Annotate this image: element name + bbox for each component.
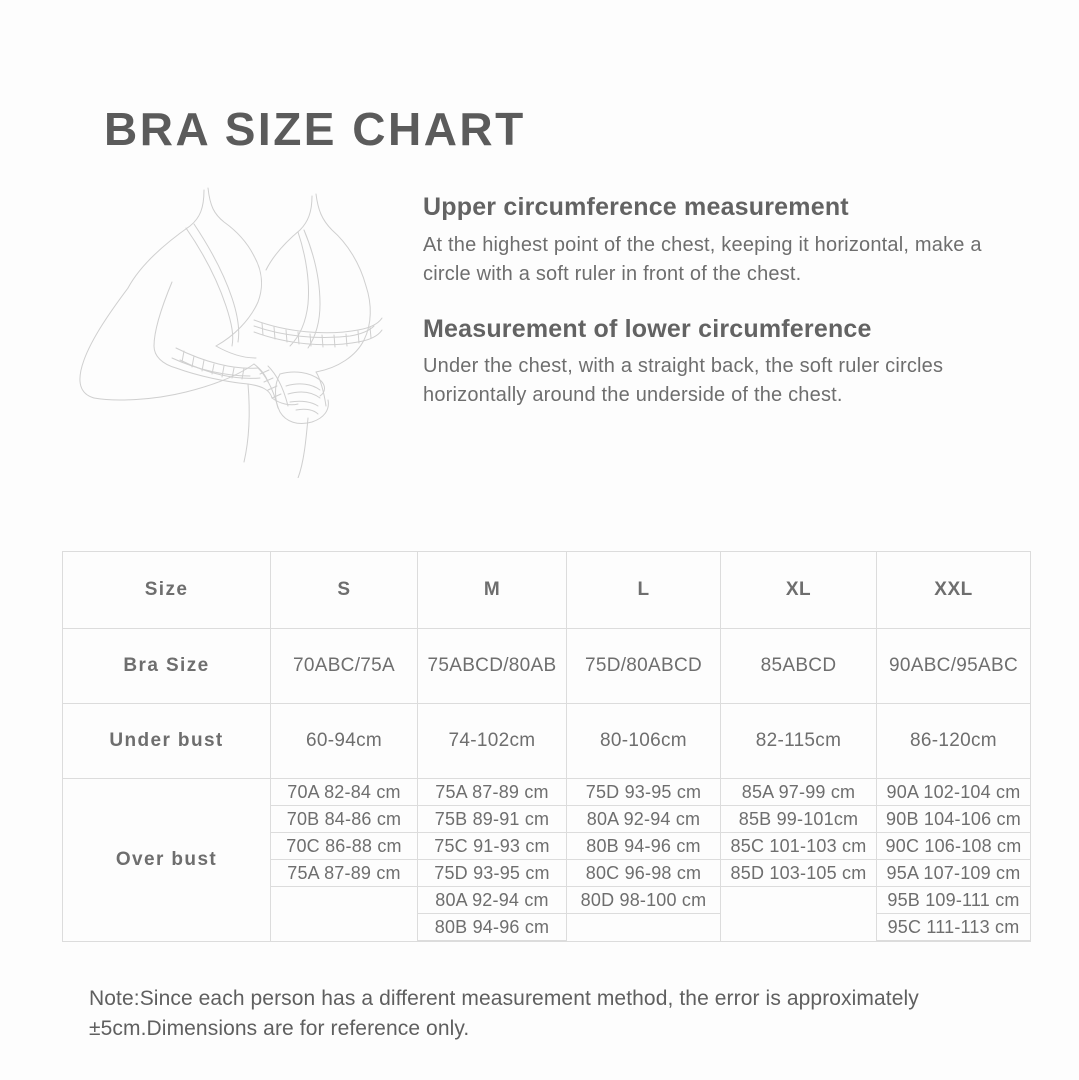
- over-bust-subrow: 70A 82-84 cm: [271, 779, 417, 806]
- over-bust-sublist: 75A 87-89 cm75B 89-91 cm75C 91-93 cm75D …: [418, 779, 566, 941]
- header-cell-xxl: XXL: [877, 552, 1031, 629]
- over-bust-subrow: 75A 87-89 cm: [418, 779, 566, 806]
- instructions-section: Upper circumference measurement At the h…: [423, 193, 1023, 436]
- over-bust-subrow: 75D 93-95 cm: [567, 779, 720, 806]
- over-bust-sublist: 75D 93-95 cm80A 92-94 cm80B 94-96 cm80C …: [567, 779, 720, 941]
- over-bust-subrow: 80B 94-96 cm: [567, 833, 720, 860]
- over-bust-subrow: 90C 106-108 cm: [877, 833, 1030, 860]
- cell-bra-size-m: 75ABCD/80AB: [418, 629, 567, 704]
- header-cell-xl: XL: [721, 552, 877, 629]
- instruction-block-lower: Measurement of lower circumference Under…: [423, 315, 1023, 411]
- cell-over-bust-s: 70A 82-84 cm70B 84-86 cm70C 86-88 cm75A …: [271, 779, 418, 942]
- table-row-over-bust: Over bust 70A 82-84 cm70B 84-86 cm70C 86…: [63, 779, 1031, 942]
- cell-over-bust-l: 75D 93-95 cm80A 92-94 cm80B 94-96 cm80C …: [567, 779, 721, 942]
- header-cell-s: S: [271, 552, 418, 629]
- over-bust-subrow: 80D 98-100 cm: [567, 887, 720, 914]
- over-bust-subrow: 80A 92-94 cm: [418, 887, 566, 914]
- instruction-block-upper: Upper circumference measurement At the h…: [423, 193, 1023, 289]
- over-bust-subrow: [721, 887, 876, 914]
- over-bust-subrow: 95B 109-111 cm: [877, 887, 1030, 914]
- cell-over-bust-m: 75A 87-89 cm75B 89-91 cm75C 91-93 cm75D …: [418, 779, 567, 942]
- row-label-under-bust: Under bust: [63, 704, 271, 779]
- header-cell-l: L: [567, 552, 721, 629]
- over-bust-subrow: 95C 111-113 cm: [877, 914, 1030, 941]
- over-bust-subrow: 75A 87-89 cm: [271, 860, 417, 887]
- over-bust-subrow: 75D 93-95 cm: [418, 860, 566, 887]
- over-bust-subrow: 80A 92-94 cm: [567, 806, 720, 833]
- instruction-heading-lower: Measurement of lower circumference: [423, 315, 1023, 345]
- cell-bra-size-xl: 85ABCD: [721, 629, 877, 704]
- cell-over-bust-xl: 85A 97-99 cm85B 99-101cm85C 101-103 cm85…: [721, 779, 877, 942]
- table-row-bra-size: Bra Size 70ABC/75A 75ABCD/80AB 75D/80ABC…: [63, 629, 1031, 704]
- cell-under-bust-l: 80-106cm: [567, 704, 721, 779]
- cell-under-bust-m: 74-102cm: [418, 704, 567, 779]
- over-bust-subrow: 90A 102-104 cm: [877, 779, 1030, 806]
- page-title: BRA SIZE CHART: [104, 106, 526, 152]
- over-bust-subrow: 70B 84-86 cm: [271, 806, 417, 833]
- row-label-bra-size: Bra Size: [63, 629, 271, 704]
- instruction-heading-upper: Upper circumference measurement: [423, 193, 1023, 223]
- over-bust-subrow: [271, 887, 417, 914]
- cell-bra-size-s: 70ABC/75A: [271, 629, 418, 704]
- cell-under-bust-xxl: 86-120cm: [877, 704, 1031, 779]
- cell-bra-size-l: 75D/80ABCD: [567, 629, 721, 704]
- cell-over-bust-xxl: 90A 102-104 cm90B 104-106 cm90C 106-108 …: [877, 779, 1031, 942]
- table-row-under-bust: Under bust 60-94cm 74-102cm 80-106cm 82-…: [63, 704, 1031, 779]
- over-bust-subrow: 85D 103-105 cm: [721, 860, 876, 887]
- cell-under-bust-s: 60-94cm: [271, 704, 418, 779]
- over-bust-subrow: 85A 97-99 cm: [721, 779, 876, 806]
- header-cell-size: Size: [63, 552, 271, 629]
- header-cell-m: M: [418, 552, 567, 629]
- table-header-row: Size S M L XL XXL: [63, 552, 1031, 629]
- female-torso-with-measuring-tape-illustration: [58, 178, 428, 478]
- over-bust-sublist: 70A 82-84 cm70B 84-86 cm70C 86-88 cm75A …: [271, 779, 417, 941]
- instruction-body-lower: Under the chest, with a straight back, t…: [423, 352, 998, 410]
- cell-bra-size-xxl: 90ABC/95ABC: [877, 629, 1031, 704]
- bra-size-table: Size S M L XL XXL Bra Size 70ABC/75A 75A…: [62, 551, 1031, 942]
- over-bust-subrow: 70C 86-88 cm: [271, 833, 417, 860]
- over-bust-sublist: 85A 97-99 cm85B 99-101cm85C 101-103 cm85…: [721, 779, 876, 941]
- over-bust-subrow: 95A 107-109 cm: [877, 860, 1030, 887]
- row-label-over-bust: Over bust: [63, 779, 271, 942]
- cell-under-bust-xl: 82-115cm: [721, 704, 877, 779]
- over-bust-subrow: [271, 914, 417, 941]
- over-bust-subrow: 75B 89-91 cm: [418, 806, 566, 833]
- over-bust-subrow: 90B 104-106 cm: [877, 806, 1030, 833]
- over-bust-subrow: [567, 914, 720, 941]
- over-bust-sublist: 90A 102-104 cm90B 104-106 cm90C 106-108 …: [877, 779, 1030, 941]
- over-bust-subrow: [721, 914, 876, 941]
- over-bust-subrow: 80C 96-98 cm: [567, 860, 720, 887]
- over-bust-subrow: 85C 101-103 cm: [721, 833, 876, 860]
- over-bust-subrow: 85B 99-101cm: [721, 806, 876, 833]
- instruction-body-upper: At the highest point of the chest, keepi…: [423, 231, 998, 289]
- over-bust-subrow: 80B 94-96 cm: [418, 914, 566, 941]
- disclaimer-note: Note:Since each person has a different m…: [89, 984, 989, 1044]
- over-bust-subrow: 75C 91-93 cm: [418, 833, 566, 860]
